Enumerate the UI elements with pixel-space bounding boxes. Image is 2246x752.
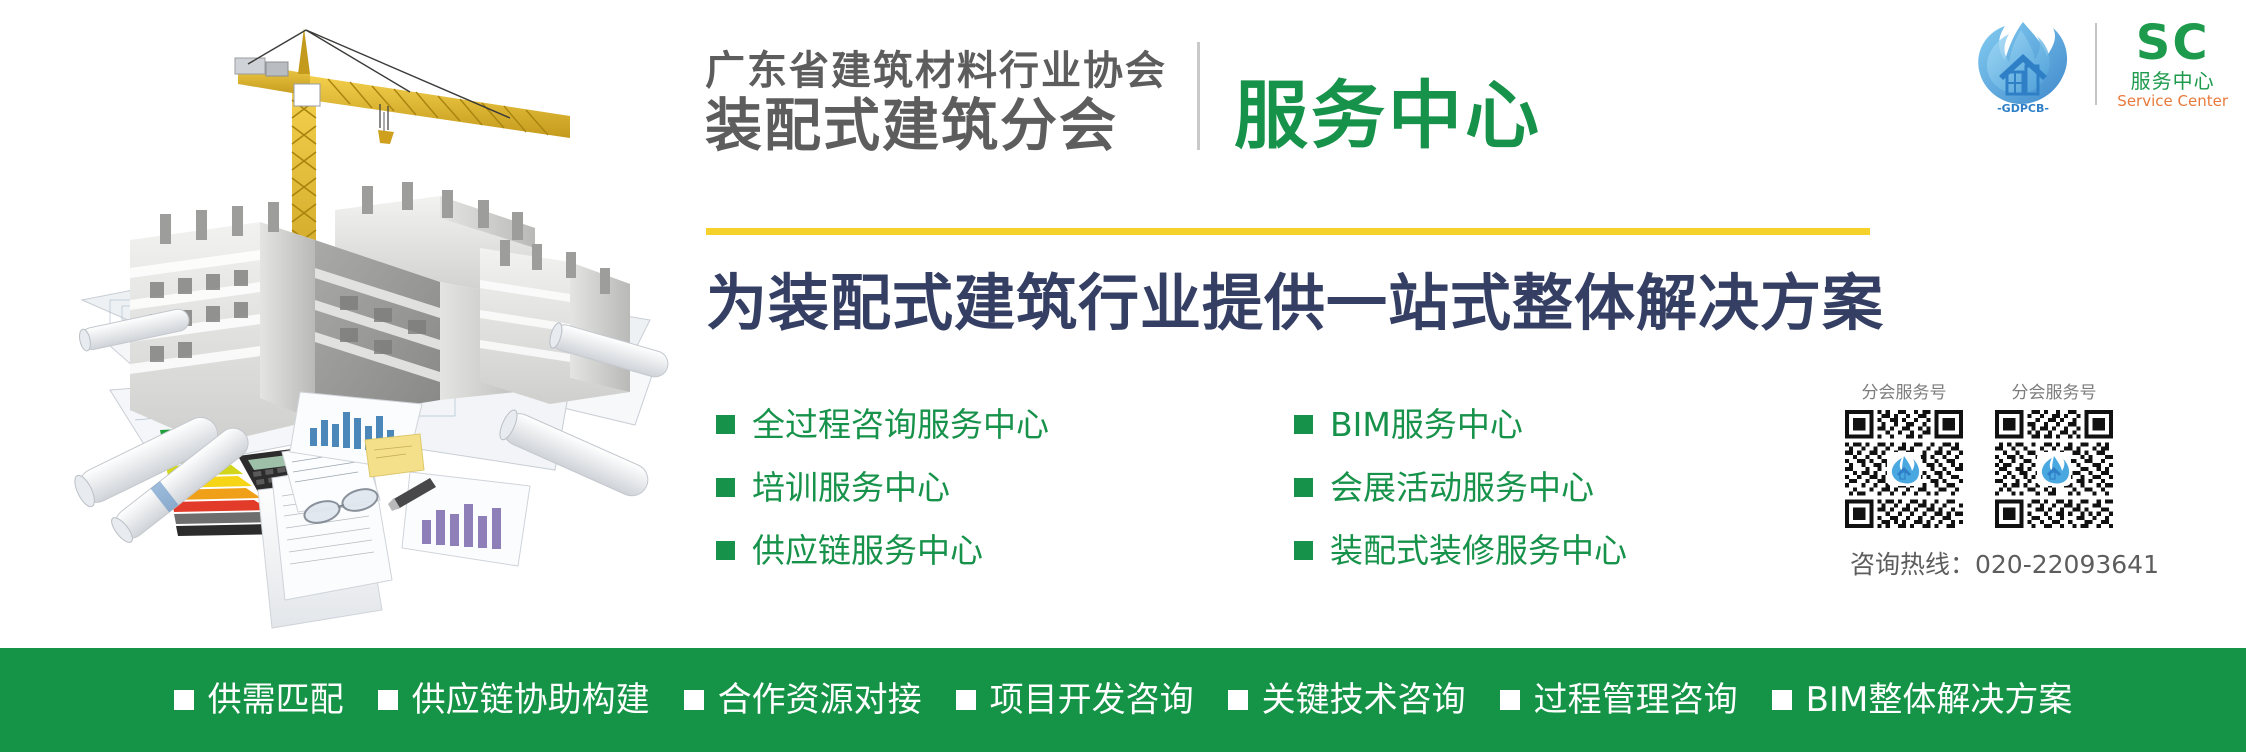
- footer-item-label: BIM整体解决方案: [1806, 683, 2073, 717]
- square-bullet-icon: [1294, 541, 1313, 560]
- footer-item-label: 供需匹配: [208, 683, 344, 717]
- sc-chinese-label: 服务中心: [2131, 71, 2215, 91]
- footer-item[interactable]: 供需匹配: [174, 683, 344, 717]
- footer-item[interactable]: 项目开发咨询: [956, 683, 1194, 717]
- service-item[interactable]: 装配式装修服务中心: [1294, 534, 1627, 567]
- sc-wordmark: SC 服务中心 Service Center: [2117, 19, 2228, 109]
- square-bullet-icon: [1228, 690, 1248, 710]
- org-name-line2: 装配式建筑分会: [705, 98, 1167, 155]
- org-name-line1: 广东省建筑材料行业协会: [705, 51, 1167, 91]
- flame-house-logo-icon: -GDPCB-: [1971, 14, 2075, 114]
- square-bullet-icon: [1500, 690, 1520, 710]
- brand-logo-block: -GDPCB- SC 服务中心 Service Center: [1971, 14, 2228, 114]
- footer-item-label: 项目开发咨询: [990, 683, 1194, 717]
- square-bullet-icon: [716, 478, 735, 497]
- qr-code-icon[interactable]: [1995, 410, 2113, 528]
- hero-construction-image: [10, 0, 670, 640]
- service-item-label: 培训服务中心: [752, 471, 950, 504]
- gold-divider-rule: [706, 228, 1870, 235]
- square-bullet-icon: [716, 541, 735, 560]
- qr-center-logo-icon: [1887, 452, 1921, 486]
- square-bullet-icon: [684, 690, 704, 710]
- qr-center-logo-icon: [2037, 452, 2071, 486]
- service-item[interactable]: 供应链服务中心: [716, 534, 1294, 567]
- service-item[interactable]: BIM服务中心: [1294, 408, 1627, 441]
- footer-item-label: 关键技术咨询: [1262, 683, 1466, 717]
- service-item[interactable]: 会展活动服务中心: [1294, 471, 1627, 504]
- qr-code-icon[interactable]: [1845, 410, 1963, 528]
- footer-item[interactable]: 合作资源对接: [684, 683, 922, 717]
- service-item-label: BIM服务中心: [1330, 408, 1523, 441]
- square-bullet-icon: [716, 415, 735, 434]
- service-centers-list: 全过程咨询服务中心 培训服务中心 供应链服务中心 BIM服务中心 会展活动服务中…: [716, 408, 1627, 567]
- footer-item-label: 合作资源对接: [718, 683, 922, 717]
- service-item-label: 全过程咨询服务中心: [752, 408, 1049, 441]
- qr-cell[interactable]: 分会服务号: [1995, 378, 2113, 528]
- tagline-subtitle: 为装配式建筑行业提供一站式整体解决方案: [706, 253, 1884, 342]
- organization-names: 广东省建筑材料行业协会 装配式建筑分会: [705, 51, 1167, 155]
- service-column-left: 全过程咨询服务中心 培训服务中心 供应链服务中心: [716, 408, 1294, 567]
- footer-item[interactable]: 供应链协助构建: [378, 683, 650, 717]
- qr-cell[interactable]: 分会服务号: [1845, 378, 1963, 528]
- footer-items-row: 供需匹配 供应链协助构建 合作资源对接 项目开发咨询 关键技术咨询 过程管理咨询: [174, 683, 2073, 717]
- qr-code-row: 分会服务号: [1845, 378, 2230, 528]
- footer-item[interactable]: 关键技术咨询: [1228, 683, 1466, 717]
- square-bullet-icon: [174, 690, 194, 710]
- header-title-block: 广东省建筑材料行业协会 装配式建筑分会 服务中心: [705, 42, 1542, 155]
- footer-item[interactable]: BIM整体解决方案: [1772, 683, 2073, 717]
- service-item-label: 供应链服务中心: [752, 534, 983, 567]
- logo-caption-gdpcb: -GDPCB-: [1997, 102, 2049, 114]
- promotional-banner: 广东省建筑材料行业协会 装配式建筑分会 服务中心 为装配式建筑行业提供一站式整体…: [0, 0, 2246, 752]
- service-item[interactable]: 培训服务中心: [716, 471, 1294, 504]
- footer-item[interactable]: 过程管理咨询: [1500, 683, 1738, 717]
- square-bullet-icon: [1294, 415, 1313, 434]
- footer-services-bar: 供需匹配 供应链协助构建 合作资源对接 项目开发咨询 关键技术咨询 过程管理咨询: [0, 648, 2246, 752]
- service-item[interactable]: 全过程咨询服务中心: [716, 408, 1294, 441]
- title-divider: [1197, 42, 1200, 150]
- footer-item-label: 过程管理咨询: [1534, 683, 1738, 717]
- sticky-note: [365, 434, 424, 477]
- footer-item-label: 供应链协助构建: [412, 683, 650, 717]
- square-bullet-icon: [956, 690, 976, 710]
- service-column-right: BIM服务中心 会展活动服务中心 装配式装修服务中心: [1294, 408, 1627, 567]
- square-bullet-icon: [1294, 478, 1313, 497]
- qr-caption: 分会服务号: [2012, 378, 2097, 403]
- hotline-text: 咨询热线：020-22093641: [1845, 545, 2230, 581]
- brand-divider: [2095, 23, 2097, 105]
- service-item-label: 会展活动服务中心: [1330, 471, 1594, 504]
- square-bullet-icon: [378, 690, 398, 710]
- secondary-tower: [480, 240, 630, 404]
- qr-contact-block: 分会服务号: [1845, 378, 2230, 581]
- sc-english-label: Service Center: [2117, 94, 2228, 109]
- qr-caption: 分会服务号: [1862, 378, 1947, 403]
- service-item-label: 装配式装修服务中心: [1330, 534, 1627, 567]
- square-bullet-icon: [1772, 690, 1792, 710]
- service-center-title: 服务中心: [1234, 79, 1542, 155]
- sc-letters: SC: [2136, 19, 2210, 67]
